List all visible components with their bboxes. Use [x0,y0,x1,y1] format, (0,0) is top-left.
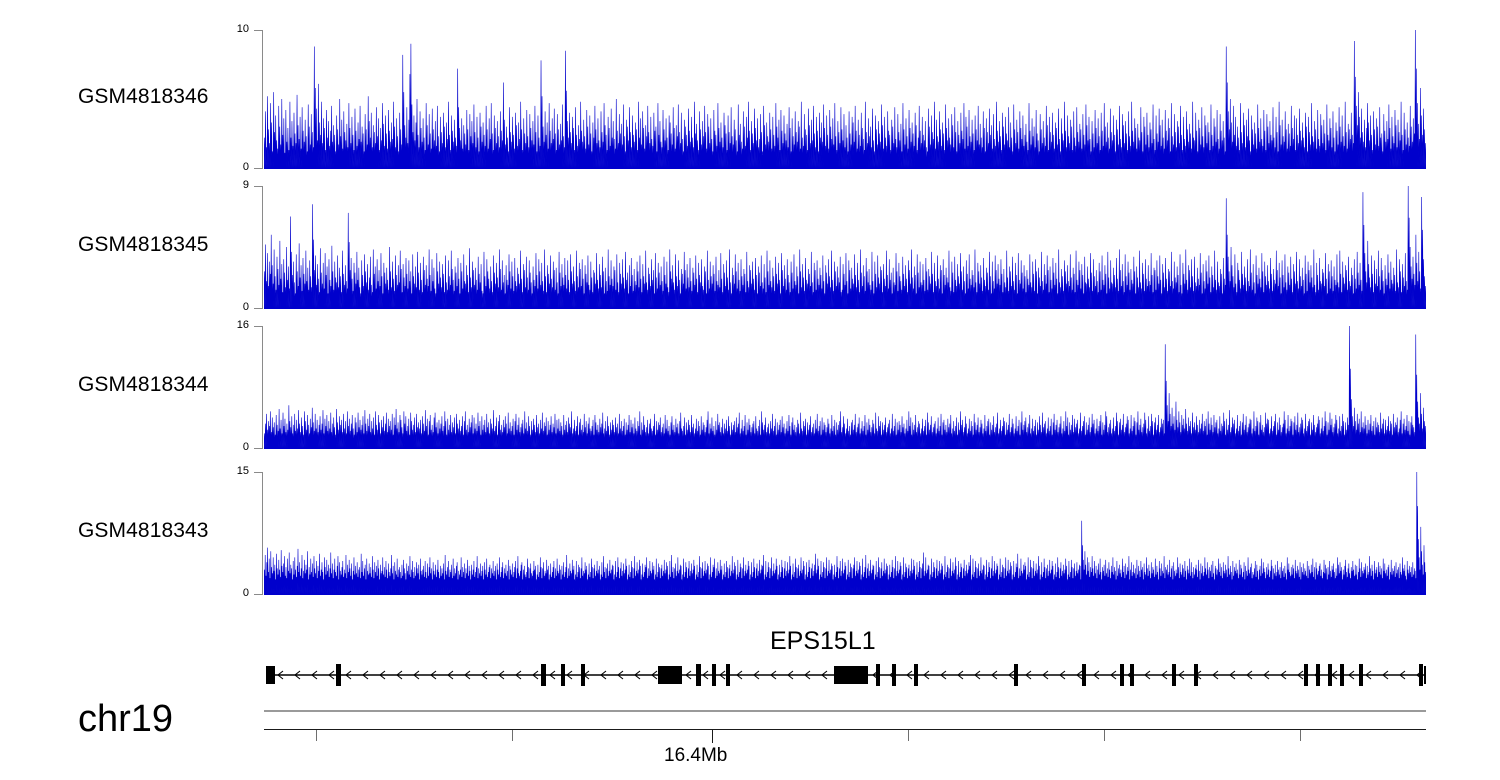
track-label-gsm4818344: GSM4818344 [78,373,209,397]
gene-exon [1316,664,1320,686]
axis-tick [254,448,263,449]
gene-exon [726,664,730,686]
track-label-gsm4818346: GSM4818346 [78,85,209,109]
coverage-baseline [264,448,1426,449]
gene-exon [1014,664,1018,686]
axis-max-label: 10 [209,24,249,35]
ruler-position-label: 16.4Mb [664,745,727,767]
coverage-plot-gsm4818344[interactable] [264,326,1426,448]
coverage-plot-gsm4818343[interactable] [264,472,1426,594]
gene-exon [876,664,880,686]
axis-min-label: 0 [209,588,249,599]
genome-browser-view: GSM4818346100GSM481834590GSM4818344160GS… [0,0,1500,780]
axis-tick [254,308,263,309]
axis-tick [254,326,263,327]
axis-max-label: 15 [209,466,249,477]
axis-tick [254,30,263,31]
gene-exon [834,666,868,684]
axis-tick [254,186,263,187]
gene-exon [712,664,716,686]
coverage-baseline [264,308,1426,309]
gene-exon [1340,664,1344,686]
ruler-tick [908,730,909,741]
ruler-tick [316,730,317,741]
gene-exon [561,664,565,686]
gene-exon [658,666,682,684]
gene-exon [266,666,275,684]
gene-exon [1304,664,1308,686]
gene-exon [1424,666,1426,684]
axis-tick [254,472,263,473]
track-axis-line [262,30,263,168]
ruler-tick [512,730,513,741]
gene-exon [696,664,701,686]
track-label-gsm4818345: GSM4818345 [78,233,209,257]
coverage-plot-gsm4818345[interactable] [264,186,1426,308]
axis-min-label: 0 [209,442,249,453]
gene-exon [1172,664,1176,686]
axis-tick [254,168,263,169]
gene-name-label: EPS15L1 [770,627,876,656]
coverage-plot-gsm4818346[interactable] [264,30,1426,168]
coverage-baseline [264,168,1426,169]
track-separator-line [264,710,1426,712]
axis-max-label: 16 [209,320,249,331]
axis-min-label: 0 [209,162,249,173]
genome-ruler-line [264,729,1426,730]
gene-exon [1328,664,1332,686]
gene-exon [1130,664,1134,686]
axis-min-label: 0 [209,302,249,313]
track-axis-line [262,326,263,448]
gene-exon [1120,664,1124,686]
ruler-tick [712,730,713,743]
gene-model-track[interactable] [264,655,1426,695]
gene-exon [914,664,918,686]
ruler-tick [1104,730,1105,741]
track-axis-line [262,186,263,308]
gene-exon [1194,664,1198,686]
ruler-tick [1300,730,1301,741]
coverage-baseline [264,594,1426,595]
axis-max-label: 9 [209,180,249,191]
gene-exon [892,664,896,686]
gene-exon [336,664,341,686]
axis-tick [254,594,263,595]
track-axis-line [262,472,263,594]
gene-exon [1082,664,1086,686]
gene-exon [1359,664,1363,686]
gene-exon [1419,664,1423,686]
chromosome-label: chr19 [78,698,173,741]
gene-exon [581,664,585,686]
gene-exon [541,664,546,686]
track-label-gsm4818343: GSM4818343 [78,519,209,543]
